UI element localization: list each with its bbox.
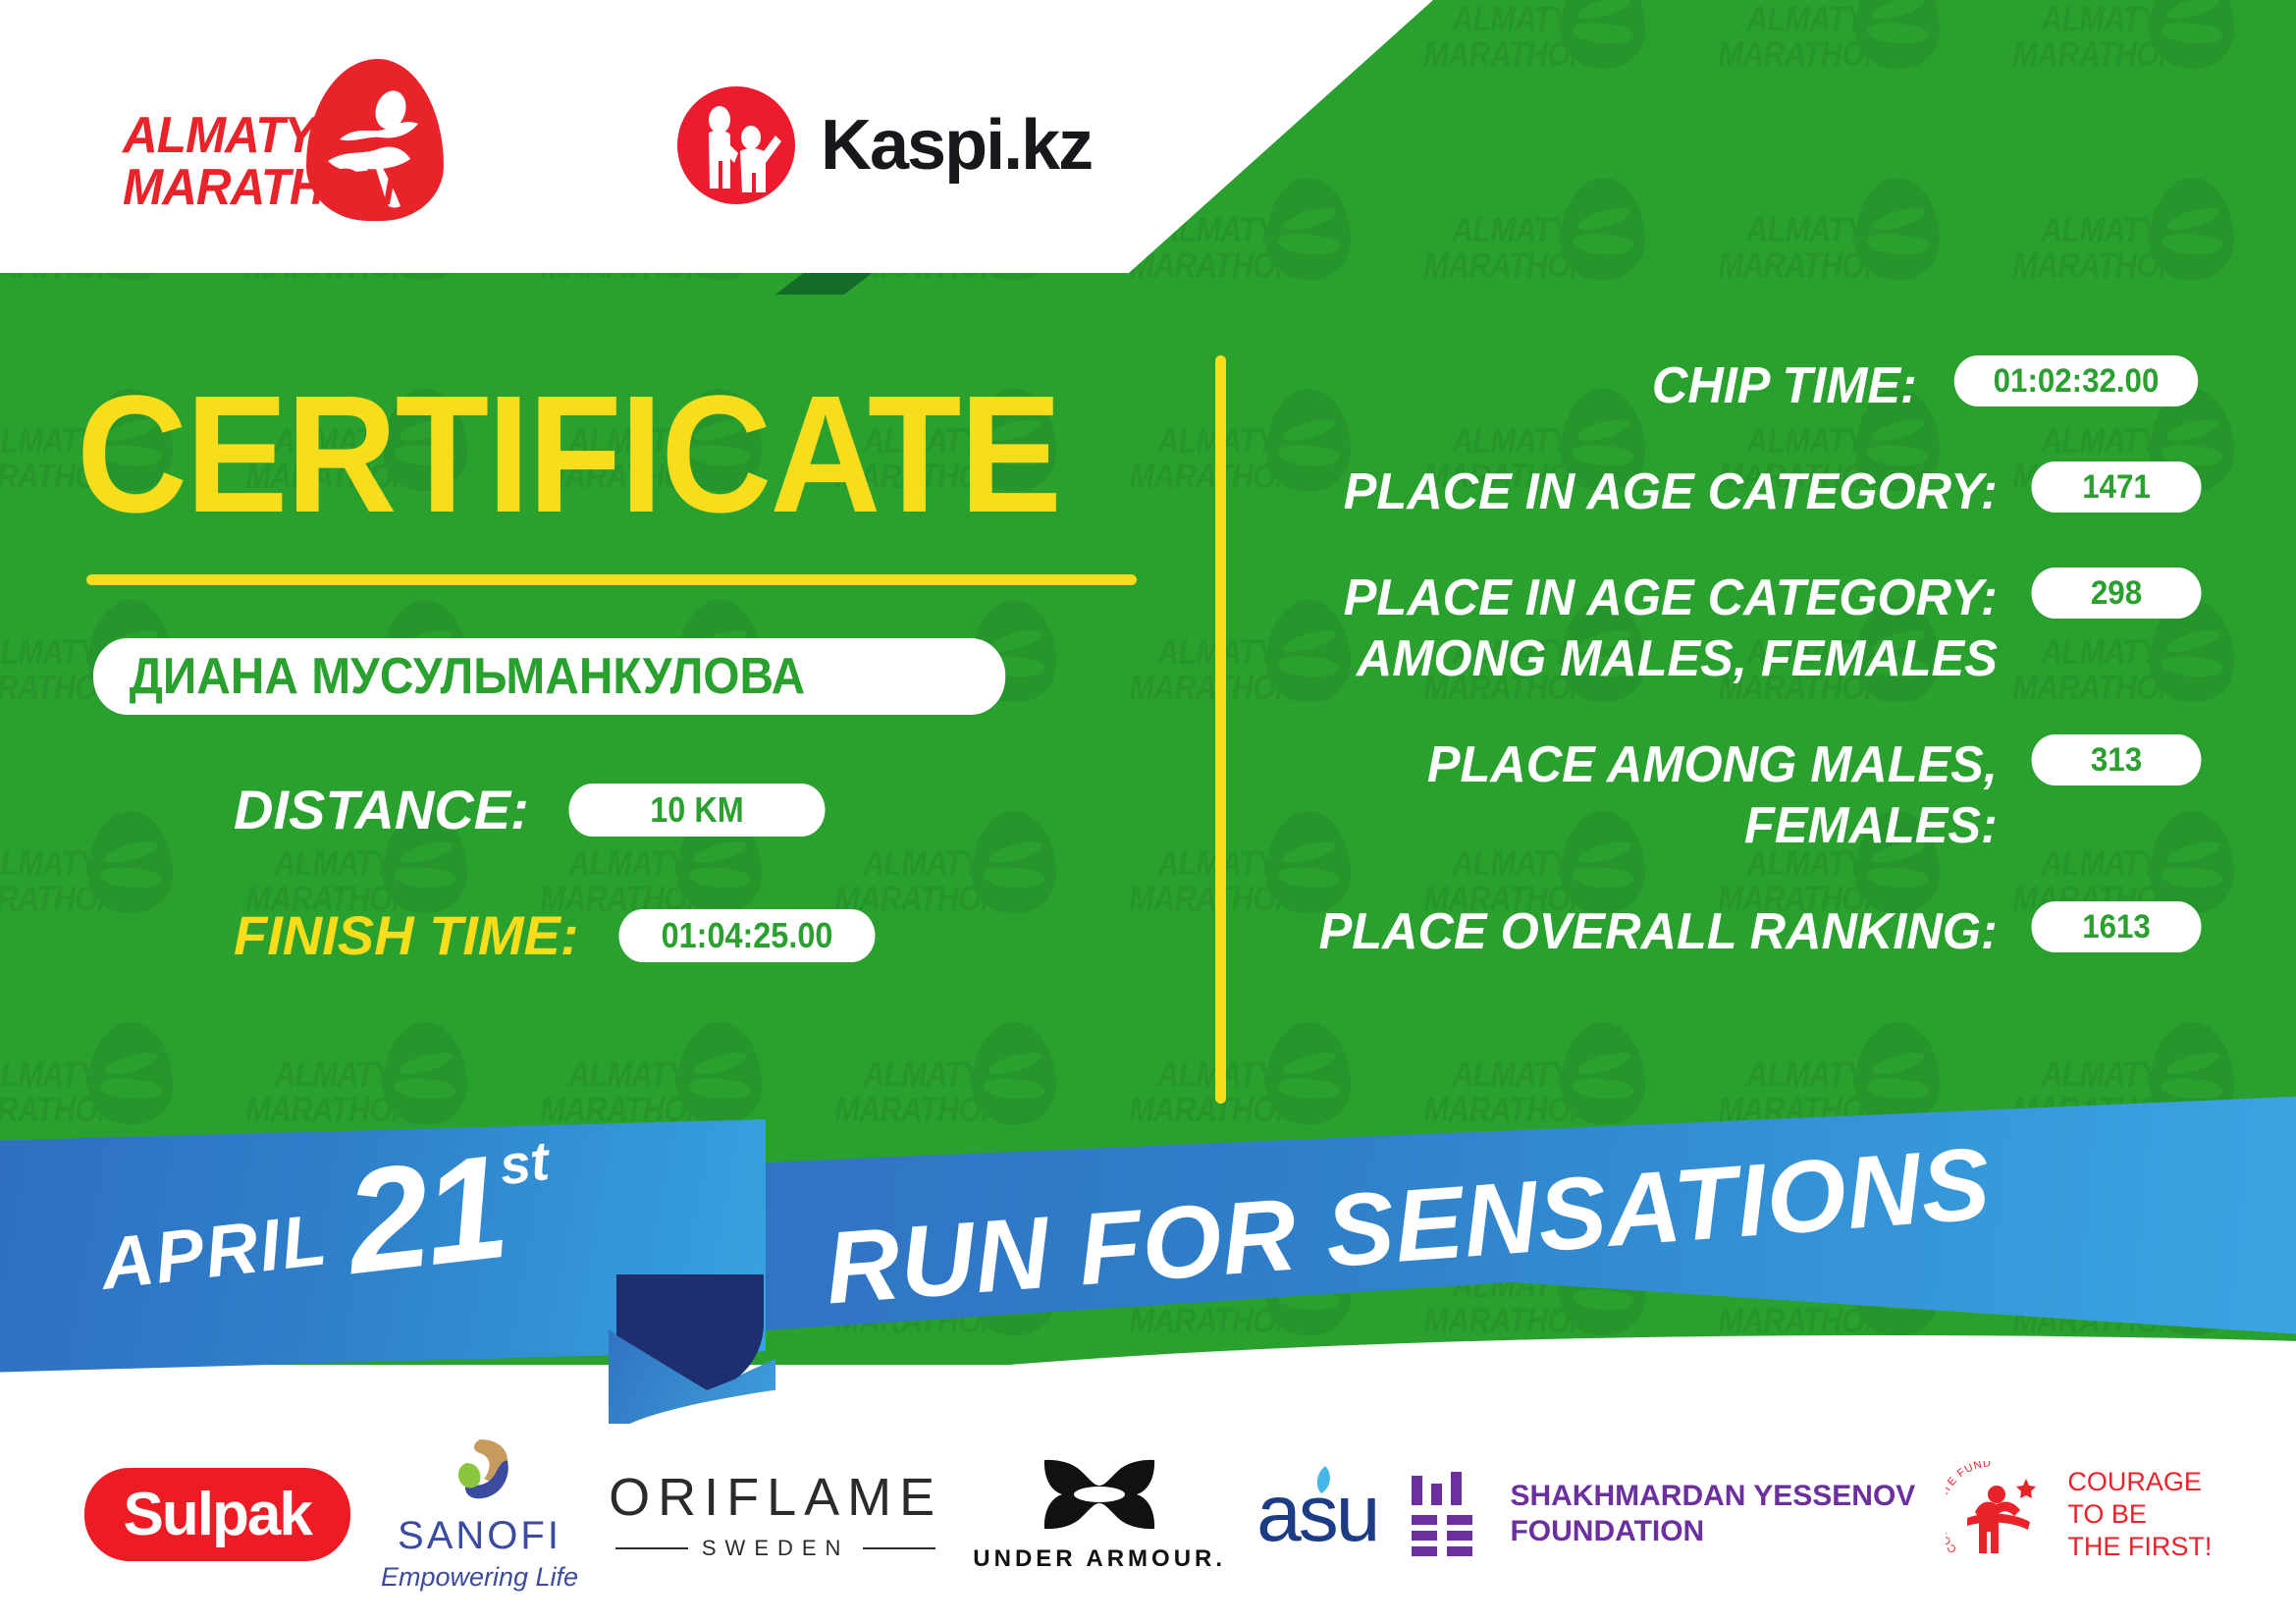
watermark-mark: ALMATYMARATHON — [2002, 172, 2296, 378]
finish-time-row: FINISH TIME: 01:04:25.00 — [234, 903, 889, 967]
courage-fund-wordmark: COURAGE TO BE THE FIRST! — [2067, 1466, 2212, 1563]
distance-row: DISTANCE: 10 KM — [234, 778, 839, 841]
event-day: 21 — [340, 1137, 510, 1291]
sponsor-shakhmardan-yessenov-foundation: SHAKHMARDAN YESSENOV FOUNDATION — [1408, 1472, 1915, 1556]
watermark-text: ALMATYMARATHON — [1129, 424, 1276, 495]
result-value: 1613 — [2032, 901, 2202, 952]
asu-droplet-icon — [1308, 1464, 1337, 1497]
almaty-marathon-wordmark-line2: MARATHON — [123, 162, 309, 214]
column-divider — [1215, 355, 1226, 1104]
result-row: PLACE IN AGE CATEGORY:AMONG MALES, FEMAL… — [1276, 568, 2209, 689]
sanofi-mark-icon — [443, 1435, 515, 1508]
watermark-text: ALMATYMARATHON — [1423, 2, 1571, 73]
sponsor-sulpak: Sulpak — [84, 1468, 350, 1561]
kaspi-logo: Kaspi.kz — [677, 86, 1092, 204]
kaspi-people-icon — [677, 86, 795, 204]
yessenov-foundation-icon — [1408, 1472, 1484, 1556]
yessenov-line2: FOUNDATION — [1510, 1514, 1915, 1549]
oriflame-country: SWEDEN — [702, 1536, 850, 1561]
courage-line3: THE FIRST! — [2067, 1531, 2212, 1563]
result-value: 298 — [2032, 568, 2202, 619]
watermark-text: ALMATYMARATHON — [1129, 846, 1276, 917]
result-value: 01:02:32.00 — [1954, 355, 2198, 406]
yessenov-line1: SHAKHMARDAN YESSENOV — [1510, 1479, 1915, 1514]
oriflame-rule-right — [863, 1547, 935, 1549]
watermark-mark: ALMATYMARATHON — [2002, 0, 2296, 167]
watermark-text: ALMATYMARATHON — [0, 846, 98, 917]
sanofi-tagline: Empowering Life — [381, 1562, 578, 1593]
event-month: APRIL — [96, 1197, 332, 1306]
result-value: 313 — [2032, 734, 2202, 785]
watermark-text: ALMATYMARATHON — [1423, 213, 1571, 284]
watermark-mark: ALMATYMARATHON — [1414, 172, 1708, 378]
participant-name-field: ДИАНА МУСУЛЬМАНКУЛОВА — [93, 638, 1005, 715]
watermark-mark: ALMATYMARATHON — [1414, 0, 1708, 167]
under-armour-icon — [1037, 1456, 1162, 1538]
result-label: CHIP TIME: — [1296, 355, 1944, 416]
result-label: PLACE AMONG MALES,FEMALES: — [1299, 734, 2024, 856]
result-label: PLACE OVERALL RANKING: — [1299, 901, 2024, 962]
result-label: PLACE IN AGE CATEGORY:AMONG MALES, FEMAL… — [1299, 568, 2024, 689]
finish-time-value: 01:04:25.00 — [618, 909, 875, 962]
watermark-text: ALMATYMARATHON — [2012, 213, 2160, 284]
results-column: CHIP TIME:01:02:32.00PLACE IN AGE CATEGO… — [1276, 355, 2209, 1007]
result-row: PLACE AMONG MALES,FEMALES:313 — [1276, 734, 2209, 856]
result-value: 1471 — [2032, 461, 2202, 513]
almaty-marathon-wordmark: ALMATY MARATHON — [123, 110, 309, 214]
result-label: PLACE IN AGE CATEGORY: — [1299, 461, 2024, 522]
watermark-mark: ALMATYMARATHON — [1708, 0, 2002, 167]
watermark-text: ALMATYMARATHON — [1718, 2, 1865, 73]
sponsor-asu: asu — [1256, 1468, 1377, 1560]
oriflame-sub: SWEDEN — [615, 1536, 936, 1561]
sponsor-under-armour: UNDER ARMOUR. — [973, 1456, 1226, 1573]
watermark-text: ALMATYMARATHON — [2012, 2, 2160, 73]
title-underline-rule — [86, 574, 1137, 585]
certificate-page: ALMATYMARATHONALMATYMARATHONALMATYMARATH… — [0, 0, 2296, 1624]
result-row: PLACE OVERALL RANKING:1613 — [1276, 901, 2209, 962]
almaty-marathon-logo: ALMATY MARATHON — [118, 59, 442, 206]
watermark-text: ALMATYMARATHON — [0, 635, 98, 706]
watermark-mark: ALMATYMARATHON — [0, 805, 236, 1011]
distance-label: DISTANCE: — [234, 778, 529, 841]
result-row: PLACE IN AGE CATEGORY:1471 — [1276, 461, 2209, 522]
sanofi-wordmark: SANOFI — [398, 1514, 561, 1558]
sponsor-oriflame: ORIFLAME SWEDEN — [609, 1467, 942, 1561]
almaty-marathon-wordmark-line1: ALMATY — [123, 110, 309, 162]
sulpak-wordmark: Sulpak — [84, 1468, 350, 1561]
watermark-text: ALMATYMARATHON — [1129, 635, 1276, 706]
sponsor-strip: Sulpak SANOFI Empowering Life ORIFLAME S… — [0, 1404, 2296, 1624]
page-title: CERTIFICATE — [77, 371, 1060, 538]
event-ribbon: APRIL 21 st RUN FOR SENSATIONS — [0, 1100, 2296, 1434]
courage-fund-icon: CORPORATE FUND — [1946, 1461, 2052, 1567]
event-day-ordinal: st — [497, 1128, 553, 1197]
distance-value: 10 KM — [568, 784, 825, 837]
sponsor-sanofi: SANOFI Empowering Life — [381, 1435, 578, 1593]
oriflame-wordmark: ORIFLAME — [609, 1467, 942, 1528]
oriflame-rule-left — [615, 1547, 688, 1549]
finish-time-label: FINISH TIME: — [234, 903, 579, 967]
under-armour-wordmark: UNDER ARMOUR. — [973, 1545, 1226, 1573]
courage-line2: TO BE — [2067, 1498, 2212, 1531]
yessenov-foundation-wordmark: SHAKHMARDAN YESSENOV FOUNDATION — [1510, 1479, 1915, 1549]
courage-line1: COURAGE — [2067, 1466, 2212, 1498]
asu-wordmark: asu — [1256, 1468, 1377, 1560]
watermark-mark: ALMATYMARATHON — [1708, 172, 2002, 378]
watermark-text: ALMATYMARATHON — [1718, 213, 1865, 284]
sponsor-courage-to-be-the-first: CORPORATE FUND COURAGE TO BE THE FIRST! — [1946, 1461, 2212, 1567]
result-row: CHIP TIME:01:02:32.00 — [1276, 355, 2209, 416]
kaspi-wordmark: Kaspi.kz — [821, 105, 1092, 186]
